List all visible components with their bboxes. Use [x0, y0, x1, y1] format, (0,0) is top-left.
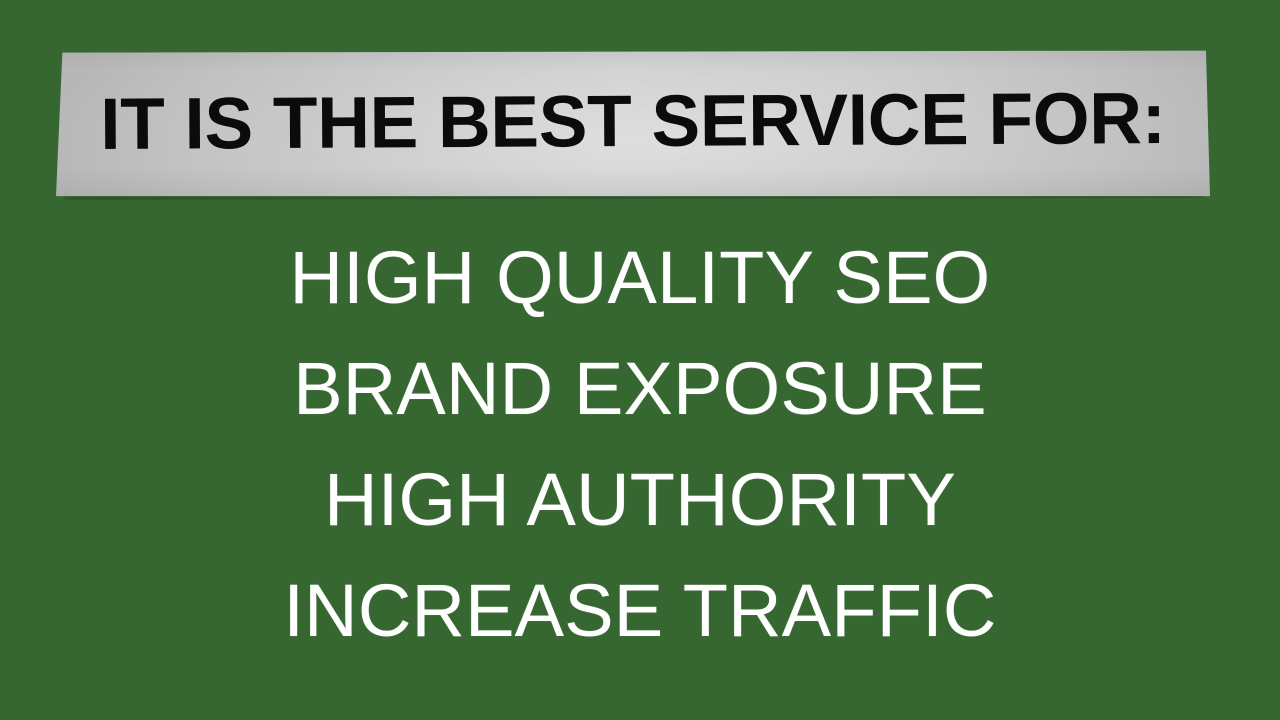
- benefit-item-2: BRAND EXPOSURE: [0, 333, 1280, 444]
- benefits-list: HIGH QUALITY SEO BRAND EXPOSURE HIGH AUT…: [0, 222, 1280, 666]
- benefit-item-4: INCREASE TRAFFIC: [0, 555, 1280, 666]
- banner-title-text: IT IS THE BEST SERVICE FOR:: [56, 45, 1211, 198]
- benefit-item-1: HIGH QUALITY SEO: [0, 222, 1280, 333]
- presentation-slide: IT IS THE BEST SERVICE FOR: HIGH QUALITY…: [0, 0, 1280, 720]
- headline-banner: IT IS THE BEST SERVICE FOR:: [56, 50, 1210, 197]
- benefit-item-3: HIGH AUTHORITY: [0, 444, 1280, 555]
